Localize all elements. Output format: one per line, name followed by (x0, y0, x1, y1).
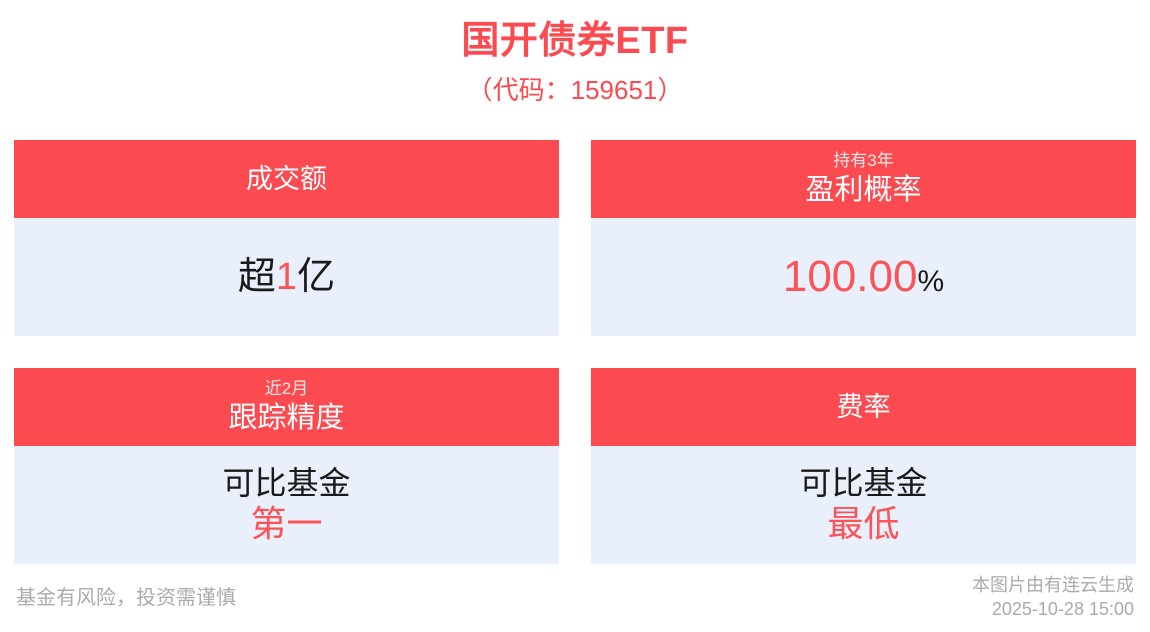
fee-rate-rank: 最低 (827, 503, 899, 545)
generation-credit: 本图片由有连云生成 2025-10-28 15:00 (972, 574, 1134, 622)
page-title: 国开债券ETF (0, 18, 1150, 66)
card-body-profit-probability: 100.00% (591, 218, 1136, 336)
card-header-profit-probability: 持有3年 盈利概率 (591, 140, 1136, 218)
percent-unit: % (917, 265, 944, 298)
stat-card-fee-rate[interactable]: 费率 可比基金 最低 (591, 368, 1136, 564)
stat-card-grid: 成交额 超1亿 持有3年 盈利概率 100.00% 近2月 跟踪精度 可比基金 … (14, 140, 1136, 564)
card-body-tracking-accuracy: 可比基金 第一 (14, 446, 559, 564)
card-header-title: 跟踪精度 (228, 401, 344, 436)
stat-card-tracking-accuracy[interactable]: 近2月 跟踪精度 可比基金 第一 (14, 368, 559, 564)
card-body-turnover: 超1亿 (14, 218, 559, 336)
card-header-title: 费率 (837, 391, 891, 423)
page-subtitle-code: （代码：159651） (0, 74, 1150, 108)
stat-card-profit-probability[interactable]: 持有3年 盈利概率 100.00% (591, 140, 1136, 336)
card-header-turnover: 成交额 (14, 140, 559, 218)
card-header-tracking-accuracy: 近2月 跟踪精度 (14, 368, 559, 446)
turnover-amount: 1 (276, 256, 297, 298)
turnover-value: 超1亿 (238, 256, 335, 299)
tracking-accuracy-rank: 第一 (250, 503, 322, 545)
card-header-title: 盈利概率 (805, 173, 921, 208)
turnover-prefix: 超 (238, 256, 276, 298)
risk-disclaimer: 基金有风险，投资需谨慎 (16, 585, 236, 611)
profit-probability-number: 100.00 (783, 252, 918, 301)
page-footer: 基金有风险，投资需谨慎 本图片由有连云生成 2025-10-28 15:00 (0, 570, 1150, 632)
credit-source: 本图片由有连云生成 (972, 574, 1134, 598)
card-header-subtitle: 近2月 (265, 378, 308, 399)
fee-rate-scope: 可比基金 (799, 465, 927, 503)
page-header: 国开债券ETF （代码：159651） (0, 0, 1150, 107)
card-header-fee-rate: 费率 (591, 368, 1136, 446)
profit-probability-value: 100.00% (783, 252, 944, 301)
card-header-subtitle: 持有3年 (833, 150, 893, 171)
card-body-fee-rate: 可比基金 最低 (591, 446, 1136, 564)
tracking-accuracy-scope: 可比基金 (222, 465, 350, 503)
turnover-suffix: 亿 (297, 256, 335, 298)
stat-card-turnover[interactable]: 成交额 超1亿 (14, 140, 559, 336)
credit-timestamp: 2025-10-28 15:00 (972, 598, 1134, 622)
card-header-title: 成交额 (246, 163, 327, 195)
